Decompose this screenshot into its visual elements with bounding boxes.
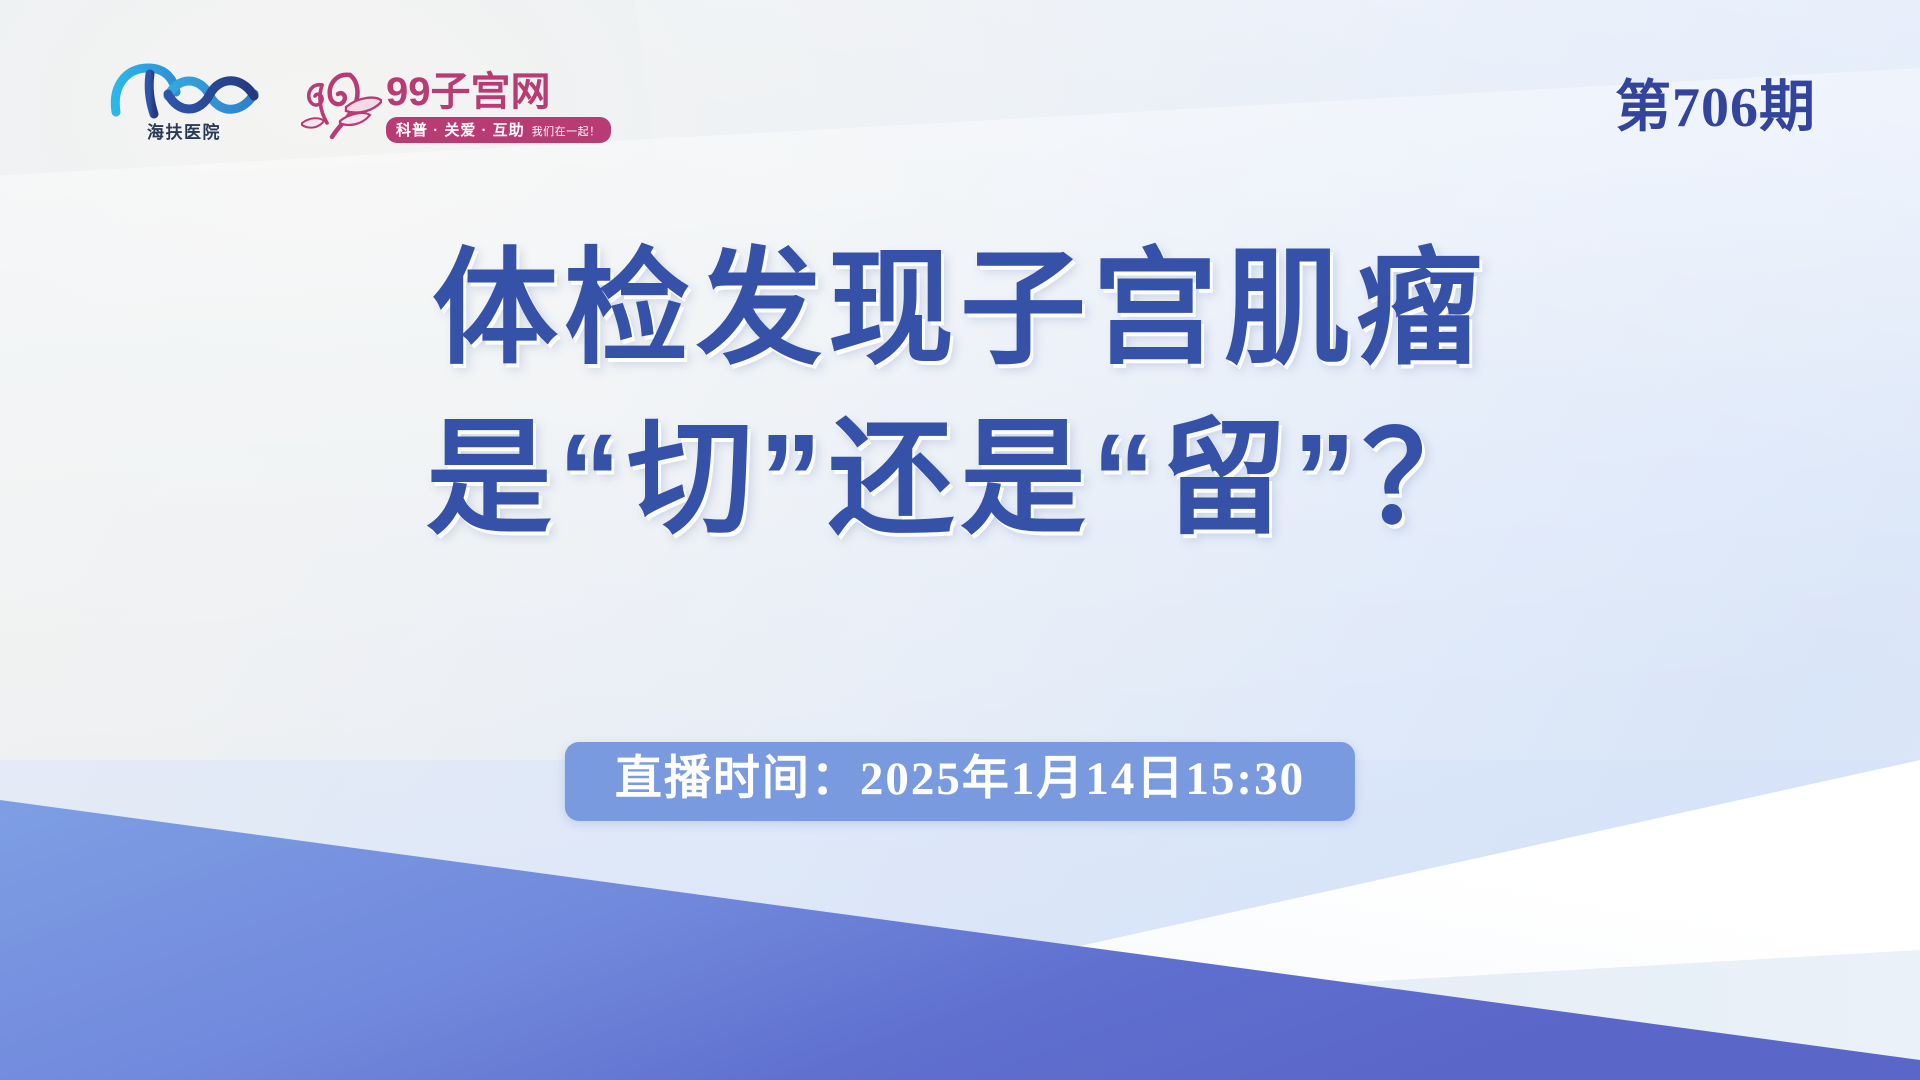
livestream-time-text: 直播时间：2025年1月14日15:30: [615, 756, 1305, 803]
hospital-name-cn: 海扶医院: [104, 118, 264, 143]
logo-group: 海扶医院: [104, 58, 611, 143]
hfx-wordmark-icon: [104, 58, 264, 120]
partner-logo: 99子宫网 科普 · 关爱 · 互助 我们在一起！: [296, 67, 611, 143]
partner-name: 99子宫网: [386, 72, 551, 112]
partner-tagline-main: 科普 · 关爱 · 互助: [396, 119, 525, 140]
title-line-1: 体检发现子宫肌瘤: [0, 236, 1920, 382]
title-block: 体检发现子宫肌瘤 是“切”还是“留”？: [0, 236, 1920, 552]
poster-header: 海扶医院: [0, 0, 1920, 190]
episode-number: 第706期: [1615, 62, 1816, 143]
livestream-time-banner: 直播时间：2025年1月14日15:30: [565, 742, 1355, 821]
heart-wings-icon: [296, 67, 382, 143]
partner-tagline-pill: 科普 · 关爱 · 互助 我们在一起！: [386, 117, 611, 143]
partner-tagline-sub: 我们在一起！: [532, 123, 601, 139]
hospital-logo: 海扶医院: [104, 58, 264, 143]
partner-logo-text-group: 99子宫网 科普 · 关爱 · 互助 我们在一起！: [386, 72, 611, 143]
poster-canvas: 海扶医院: [0, 0, 1920, 1080]
title-line-2: 是“切”还是“留”？: [0, 406, 1920, 552]
